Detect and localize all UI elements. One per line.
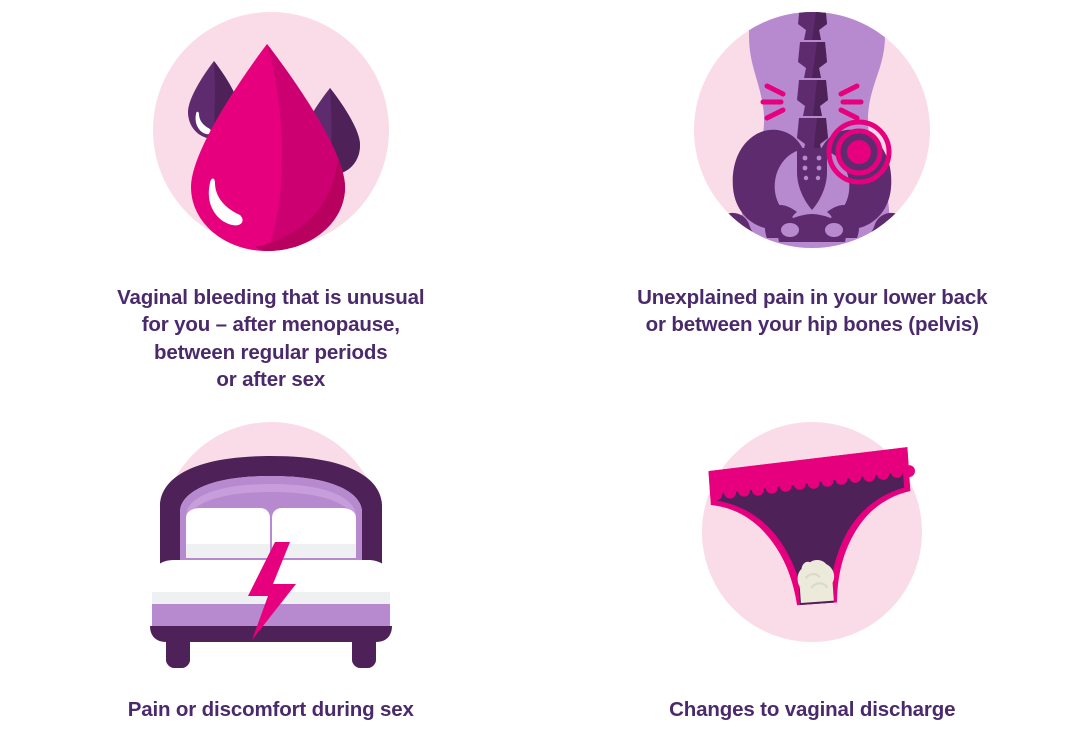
bed-lightning-icon <box>136 412 406 674</box>
symptom-card-pain: Unexplained pain in your lower back or b… <box>542 0 1083 400</box>
symptom-card-discharge: Changes to vaginal discharge <box>542 400 1083 740</box>
pelvis-lower-back-pain-icon <box>677 2 947 264</box>
symptom-grid: Vaginal bleeding that is unusual for you… <box>0 0 1083 740</box>
symptom-card-bleeding: Vaginal bleeding that is unusual for you… <box>0 0 542 400</box>
symptoms-infographic: Vaginal bleeding that is unusual for you… <box>0 0 1083 740</box>
symptom-caption-discharge: Changes to vaginal discharge <box>669 696 955 723</box>
symptom-caption-pain: Unexplained pain in your lower back or b… <box>637 284 987 339</box>
symptom-caption-bleeding: Vaginal bleeding that is unusual for you… <box>117 284 424 393</box>
symptom-card-sex: Pain or discomfort during sex <box>0 400 542 740</box>
underwear-discharge-icon <box>677 412 947 674</box>
symptom-caption-sex: Pain or discomfort during sex <box>128 696 414 723</box>
blood-drops-icon <box>136 2 406 264</box>
